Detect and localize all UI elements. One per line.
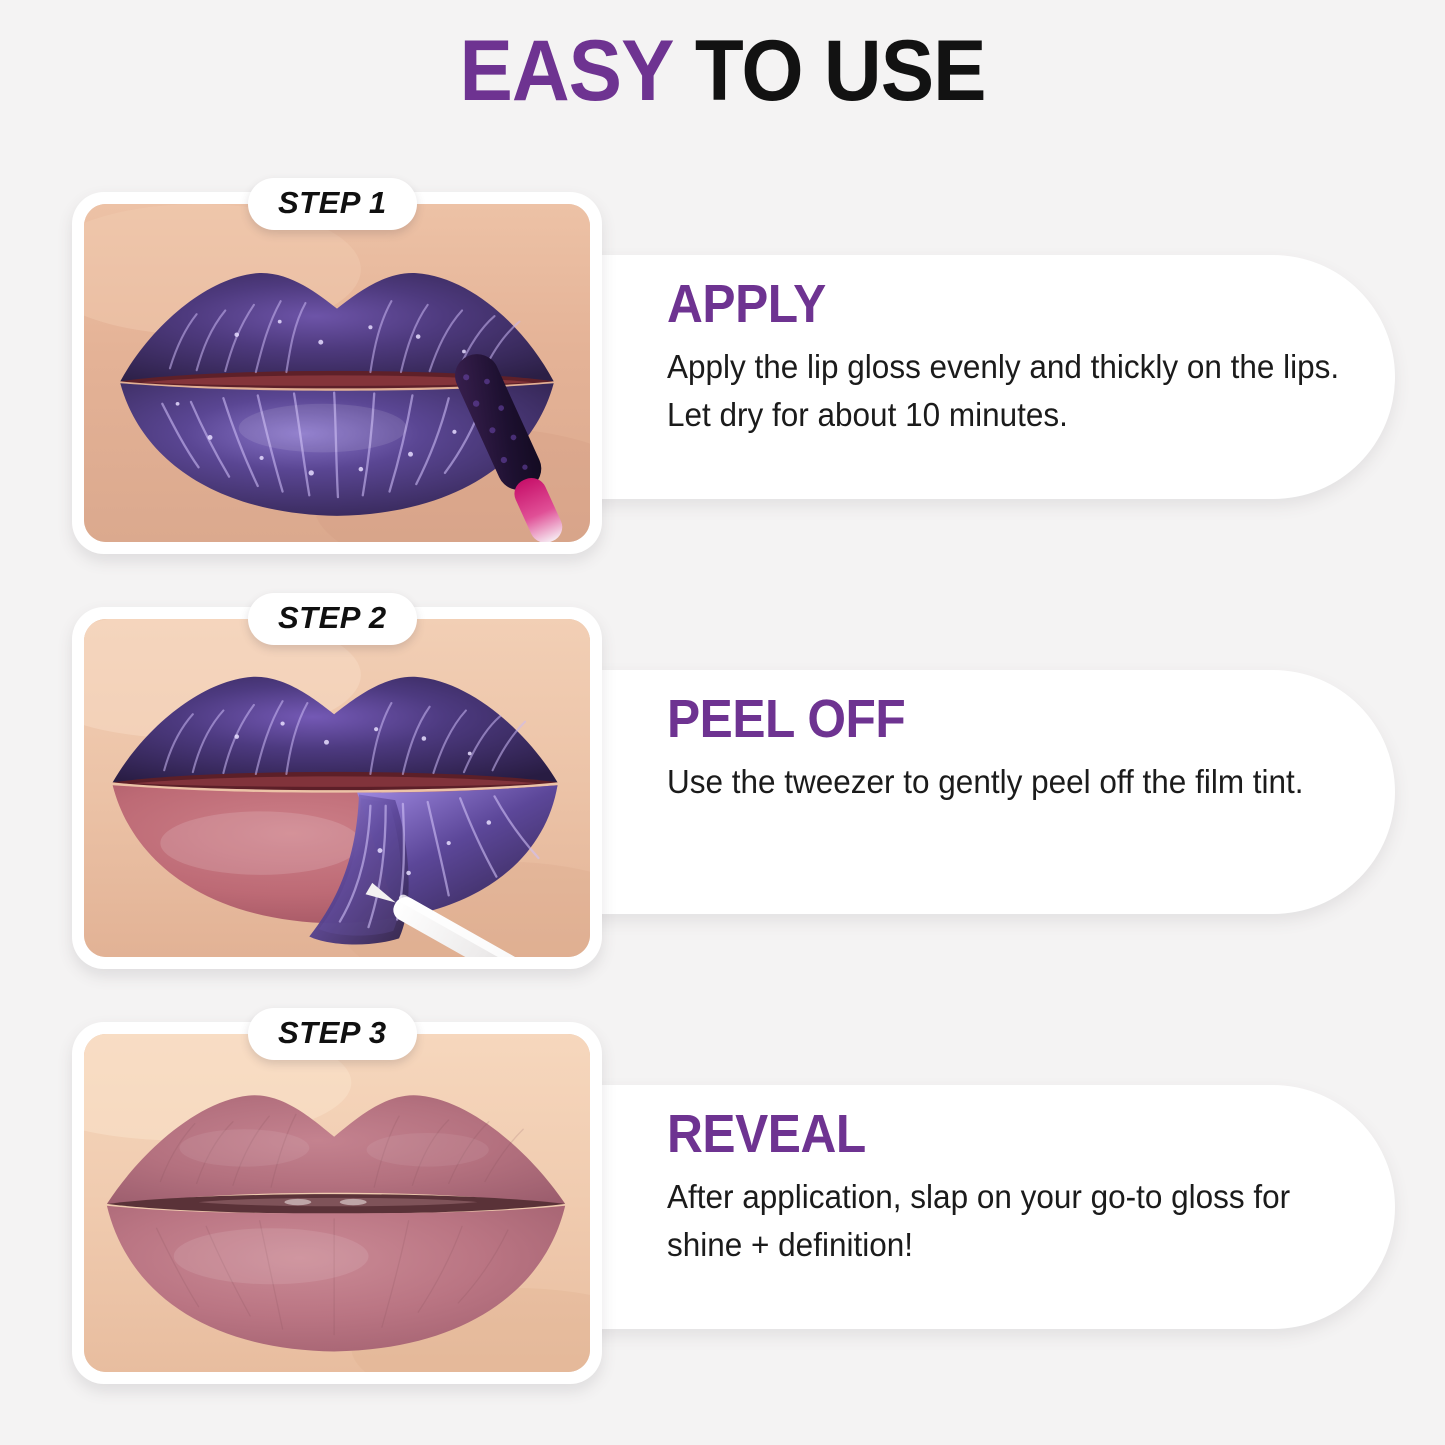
step-row: REVEAL After application, slap on your g…	[0, 998, 1445, 1413]
step-photo-reveal	[84, 1034, 590, 1372]
step-heading: APPLY	[667, 277, 1311, 332]
step-badge: STEP 2	[248, 593, 417, 645]
lips-reveal-illustration	[84, 1034, 590, 1372]
page-title-rest: TO USE	[695, 23, 986, 119]
step-row: PEEL OFF Use the tweezer to gently peel …	[0, 583, 1445, 998]
step-photo-peel	[84, 619, 590, 957]
step-badge: STEP 3	[248, 1008, 417, 1060]
step-photo-frame	[72, 1022, 602, 1384]
page-title: EASY TO USE	[51, 28, 1395, 114]
lips-apply-illustration	[84, 204, 590, 542]
steps-list: APPLY Apply the lip gloss evenly and thi…	[0, 168, 1445, 1413]
step-row: APPLY Apply the lip gloss evenly and thi…	[0, 168, 1445, 583]
step-photo-apply	[84, 204, 590, 542]
step-photo-frame	[72, 607, 602, 969]
step-heading: REVEAL	[667, 1107, 1311, 1162]
step-photo-frame	[72, 192, 602, 554]
page-title-accent: EASY	[459, 23, 673, 119]
step-body: Apply the lip gloss evenly and thickly o…	[667, 344, 1367, 439]
step-heading: PEEL OFF	[667, 692, 1311, 747]
step-body: After application, slap on your go-to gl…	[667, 1174, 1367, 1269]
lips-peel-illustration	[84, 619, 590, 957]
step-body: Use the tweezer to gently peel off the f…	[667, 759, 1367, 807]
step-badge: STEP 1	[248, 178, 417, 230]
